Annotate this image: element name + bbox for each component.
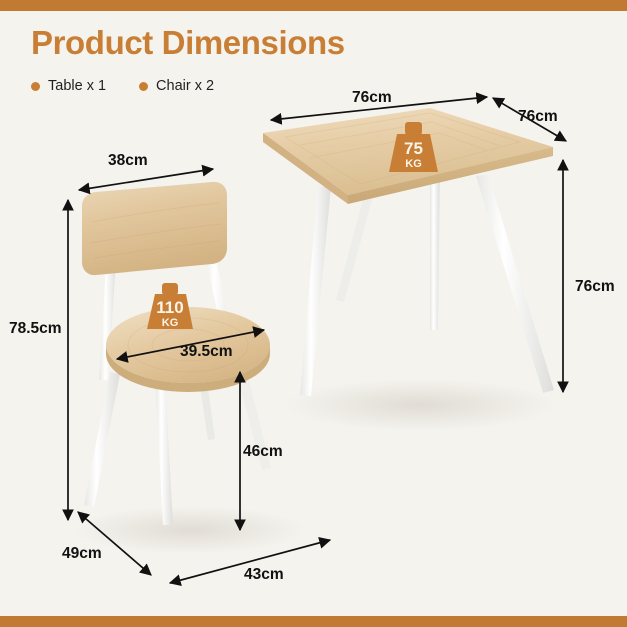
chair-total-height-label: 78.5cm bbox=[9, 320, 62, 338]
chair-floor-shadow bbox=[75, 506, 305, 554]
chair-leg-front-left bbox=[84, 372, 120, 507]
table-leg-front-left bbox=[300, 186, 331, 396]
table-height-label: 76cm bbox=[575, 278, 615, 296]
furniture-illustration bbox=[0, 0, 627, 627]
product-dimensions-infographic: Product Dimensions Table x 1 Chair x 2 bbox=[0, 0, 627, 627]
chair-seat-diameter-label: 39.5cm bbox=[180, 343, 233, 361]
chair-capacity-badge-text: 110 KG bbox=[147, 299, 193, 329]
table-capacity-badge-text: 75 KG bbox=[389, 140, 438, 170]
table-floor-shadow bbox=[285, 379, 555, 431]
chair-backrest bbox=[82, 182, 227, 275]
chair-width-label: 43cm bbox=[244, 566, 284, 584]
chair-backrest-width-label: 38cm bbox=[108, 152, 148, 170]
chair-leg-front-right bbox=[155, 378, 173, 525]
table-depth-label: 76cm bbox=[518, 108, 558, 126]
table-legs bbox=[300, 163, 554, 396]
table-leg-front-right bbox=[476, 174, 554, 393]
table-width-label: 76cm bbox=[352, 89, 392, 107]
chair-illustration bbox=[68, 169, 330, 583]
table-leg-back-right bbox=[430, 163, 440, 330]
chair-depth-label: 49cm bbox=[62, 545, 102, 563]
chair-seat-height-label: 46cm bbox=[243, 443, 283, 461]
